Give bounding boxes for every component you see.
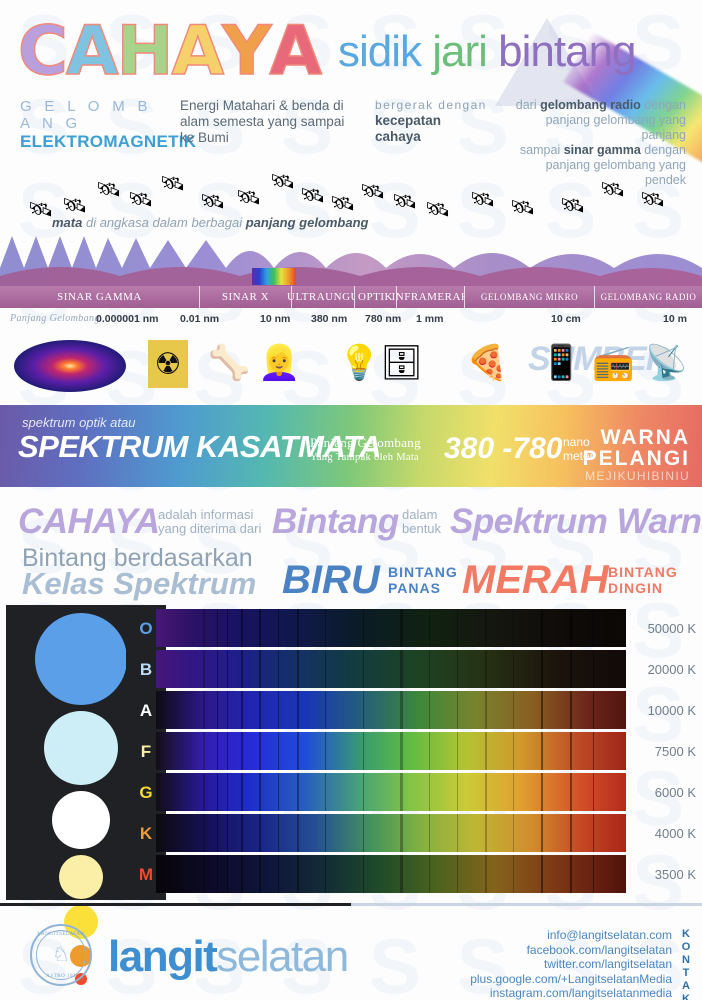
warna-label: WARNA (583, 427, 690, 448)
kecepatan-cahaya-label: kecepatan cahaya (375, 113, 489, 145)
caption-mata: mata (52, 215, 82, 230)
txt-gelombang-radio: gelombang radio (540, 98, 641, 112)
brand-logo[interactable]: langitselatan (108, 932, 348, 982)
temperature-M: 3500 K (655, 867, 696, 882)
stmt-adalah-2: yang diterima dari (158, 522, 261, 536)
panjang-gelombang-block: Panjang Gelombang Yang Tampak oleh Mata (310, 435, 421, 465)
intro-col-gelombang: G E L O M B A N G ELEKTROMAGNETIK (0, 98, 172, 188)
spectrum-row-B[interactable] (156, 650, 626, 688)
intro-col-energi: Energi Matahari & benda di alam semesta … (172, 98, 367, 188)
radio-gamma-text2: panjang gelombang yang panjang (505, 113, 686, 143)
radio-gamma-text: dari gelombang radio dengan (505, 98, 686, 113)
wavelength-scale: Panjang Gelombang 0.000001 nm0.01 nm10 n… (0, 311, 702, 329)
txt-dari: dari (516, 98, 540, 112)
kontak-letter-5: K (679, 993, 693, 1000)
galaxy-gamma-icon (14, 340, 126, 392)
subtitle-part-2: bintang (498, 27, 635, 76)
light-bulb-icon: 💡 (338, 340, 380, 386)
spectral-class-chart: OBAFGKM 50000 K20000 K10000 K7500 K6000 … (6, 605, 696, 900)
subtitle-part-0: sidik (338, 27, 432, 76)
spectrum-row-A[interactable] (156, 691, 626, 729)
warna-pelangi-block: WARNA PELANGI MEJIKUHIBINIU (583, 427, 690, 483)
em-band-ultraungu[interactable]: Ultraungu (292, 286, 355, 308)
visible-spectrum-band: spektrum optik atau SPEKTRUM KASATMATA P… (0, 405, 702, 487)
star-O (35, 613, 127, 705)
kontak-vertical-label: KONTAK (679, 928, 693, 1000)
star-B (44, 711, 118, 785)
spectrum-row-M[interactable] (156, 855, 626, 893)
seal-top-text: LANGITSELATAN (32, 931, 90, 937)
em-band-inframerah[interactable]: Inframerah (397, 286, 465, 308)
microwave-pizza-icon: 🍕 (466, 340, 508, 386)
wavelength-label-6: 10 cm (551, 313, 581, 325)
kontak-letter-3: T (679, 967, 693, 980)
header: CAHAYA sidik jari bintang (0, 0, 702, 100)
wavelength-label-5: 1 mm (416, 313, 443, 325)
subtitle-part-1: jari (432, 27, 498, 76)
brand-selatan: selatan (216, 932, 347, 981)
stmt-bintang-dingin-2: DINGIN (608, 580, 663, 596)
contact-item-1[interactable]: facebook.com/langitselatan (470, 943, 672, 958)
title-letter-0: C (18, 18, 66, 86)
stmt-bintang: Bintang (272, 502, 399, 542)
wavelength-scale-label: Panjang Gelombang (10, 313, 100, 324)
band-label-ultraungu: Ultraungu (287, 291, 359, 303)
mejikuhibiniu-label: MEJIKUHIBINIU (583, 469, 690, 483)
contact-item-3[interactable]: plus.google.com/+LangitselatanMedia (470, 972, 672, 987)
em-band-sinar-x[interactable]: Sinar X (200, 286, 292, 308)
satellite-caption: mata di angkasa dalam berbagai panjang g… (52, 215, 369, 230)
band-label-gelombang-mikro: Gelombang mikro (481, 292, 578, 302)
contact-item-0[interactable]: info@langitselatan.com (470, 928, 672, 943)
caption-panjang-gelombang: panjang gelombang (246, 215, 369, 230)
wavelength-label-4: 780 nm (365, 313, 401, 325)
intro-col-kecepatan: bergerak dengan kecepatan cahaya (367, 98, 497, 188)
stmt-kelas-spektrum: Kelas Spektrum (22, 566, 256, 602)
em-band-gelombang-mikro[interactable]: Gelombang mikro (465, 286, 595, 308)
contact-item-2[interactable]: twitter.com/langitselatan (470, 957, 672, 972)
wavelength-label-1: 0.01 nm (180, 313, 219, 325)
dish-antenna-icon: 🛰 (392, 189, 417, 214)
spectrum-row-G[interactable] (156, 773, 626, 811)
wavelength-label-0: 0.000001 nm (96, 313, 158, 325)
wavelength-label-3: 380 nm (311, 313, 347, 325)
stmt-merah: MERAH (462, 558, 609, 603)
kontak-letter-0: K (679, 928, 693, 941)
seal-bottom-text: ASTRO 101 (32, 973, 90, 979)
txt-sampai: sampai (520, 143, 564, 157)
temperature-F: 7500 K (655, 744, 696, 759)
title-letter-2: H (117, 18, 172, 86)
page-subtitle: sidik jari bintang (338, 18, 636, 86)
radiation-hazard-icon: ☢ (148, 340, 188, 388)
mobile-phone-icon: 📱 (540, 340, 582, 386)
intro-energi-text: Energi Matahari & benda di alam semesta … (180, 98, 359, 146)
telescope-icon: 🛰 (200, 189, 225, 214)
title-letter-3: A (171, 18, 222, 86)
temperature-labels: 50000 K20000 K10000 K7500 K6000 K4000 K3… (628, 605, 696, 900)
footer: LANGITSELATAN ♘ ASTRO 101 langitselatan … (0, 912, 702, 1000)
panjang-gelombang-line1: Panjang Gelombang (310, 435, 421, 450)
caption-rest: di angkasa dalam berbagai (82, 215, 245, 230)
spectrum-row-F[interactable] (156, 732, 626, 770)
star-A (52, 791, 110, 849)
kontak-letter-2: N (679, 954, 693, 967)
panjang-gelombang-line2: Yang Tampak oleh Mata (310, 450, 421, 465)
stmt-cahaya: CAHAYA (18, 502, 160, 542)
contact-list: info@langitselatan.comfacebook.com/langi… (470, 928, 672, 1000)
langitselatan-seal-icon: LANGITSELATAN ♘ ASTRO 101 (30, 924, 92, 986)
stmt-bintang-panas-2: PANAS (388, 580, 441, 596)
radio-gamma-text4: panjang gelombang yang pendek (505, 158, 686, 188)
kontak-letter-4: A (679, 980, 693, 993)
radio-tower-icon: 📡 (645, 340, 687, 386)
star-F (59, 855, 103, 899)
contact-item-4[interactable]: instagram.com/langitselatanmedia (470, 986, 672, 1000)
heater-infrared-icon: 🗄 (380, 340, 423, 386)
em-band-gelombang-radio[interactable]: Gelombang radio (595, 286, 702, 308)
title-letter-4: Y (222, 18, 269, 86)
xray-person-icon: 🦴 (208, 340, 250, 386)
pelangi-label: PELANGI (583, 448, 690, 469)
statement-row-2: Bintang berdasarkan Kelas Spektrum BIRU … (0, 544, 702, 596)
stmt-bintang-panas-1: BINTANG (388, 564, 458, 580)
satellite-icon: 🛰 (236, 185, 261, 210)
stmt-bintang-dingin-1: BINTANG (608, 564, 678, 580)
wavelength-label-7: 10 m (663, 313, 687, 325)
satellite-icon: 🛰 (28, 197, 53, 222)
band-label-sinar-gamma: Sinar Gamma (57, 291, 142, 303)
sun-uv-woman-icon: 👱‍♀️ (258, 340, 300, 386)
stmt-dalam-1: dalam (402, 508, 437, 522)
temperature-B: 20000 K (648, 662, 696, 677)
intro-col-radio-gamma: dari gelombang radio dengan panjang gelo… (497, 98, 702, 188)
intro-columns: G E L O M B A N G ELEKTROMAGNETIK Energi… (0, 98, 702, 188)
observatory-icon: 🛰 (330, 191, 355, 216)
stmt-adalah-1: adalah informasi (158, 508, 253, 522)
gelombang-label-1: G E L O M B A N G (20, 98, 164, 132)
stmt-dalam-2: bentuk (402, 522, 441, 536)
txt-sinar-gamma: sinar gamma (564, 143, 641, 157)
temperature-G: 6000 K (655, 785, 696, 800)
temperature-A: 10000 K (648, 703, 696, 718)
satellite-icon: 🛰 (510, 195, 535, 220)
radio-gamma-text3: sampai sinar gamma dengan (505, 143, 686, 158)
band-label-gelombang-radio: Gelombang radio (601, 292, 697, 302)
telescope-icon: 🛰 (640, 187, 665, 212)
satellite-icon: 🛰 (470, 187, 495, 212)
bergerak-label: bergerak dengan (375, 98, 489, 113)
band-label-sinar-x: Sinar X (222, 291, 269, 303)
temperature-K: 4000 K (655, 826, 696, 841)
band-label-inframerah: Inframerah (392, 291, 470, 303)
title-letter-1: A (66, 18, 117, 86)
temperature-O: 50000 K (648, 621, 696, 636)
wave-illustration (0, 228, 702, 286)
page-title: CAHAYA (18, 18, 320, 86)
em-band-sinar-gamma[interactable]: Sinar Gamma (0, 286, 200, 308)
em-spectrum-bands: Sinar GammaSinar XUltraunguOptikInframer… (0, 286, 702, 308)
wavelength-range-value: 380 -780 (444, 432, 562, 466)
spectrum-row-K[interactable] (156, 814, 626, 852)
spectrum-rows (156, 605, 626, 900)
footer-divider (0, 903, 702, 906)
stmt-biru: BIRU (282, 558, 380, 603)
gelombang-label-2: ELEKTROMAGNETIK (20, 132, 164, 152)
band-label-optik: Optik (358, 291, 393, 303)
satellite-icon: 🛰 (560, 193, 585, 218)
infographic-page: SSSSSSSSSSSSSSSSSSSSSSSSSSSSSSSSSSSSSSSS… (0, 0, 702, 1000)
optical-rainbow-marker (252, 268, 296, 285)
spectrum-row-O[interactable] (156, 609, 626, 647)
satellite-icon: 🛰 (425, 197, 450, 222)
statement-row-1: CAHAYA adalah informasi yang diterima da… (0, 500, 702, 546)
title-letter-5: A (269, 18, 320, 86)
spektrum-optik-label: spektrum optik atau (22, 415, 135, 430)
wavelength-label-2: 10 nm (260, 313, 290, 325)
brand-langit: langit (108, 932, 216, 981)
txt-dengan2: dengan (641, 143, 686, 157)
stmt-spektrum-warna: Spektrum Warna (450, 502, 702, 542)
radio-icon: 📻 (592, 340, 634, 386)
source-icons-row: ☢🦴👱‍♀️💡🗄🍕📱📻📡 (0, 330, 702, 402)
kontak-letter-1: O (679, 941, 693, 954)
satellite-icon: 🛰 (128, 187, 153, 212)
txt-dengan1: dengan (641, 98, 686, 112)
